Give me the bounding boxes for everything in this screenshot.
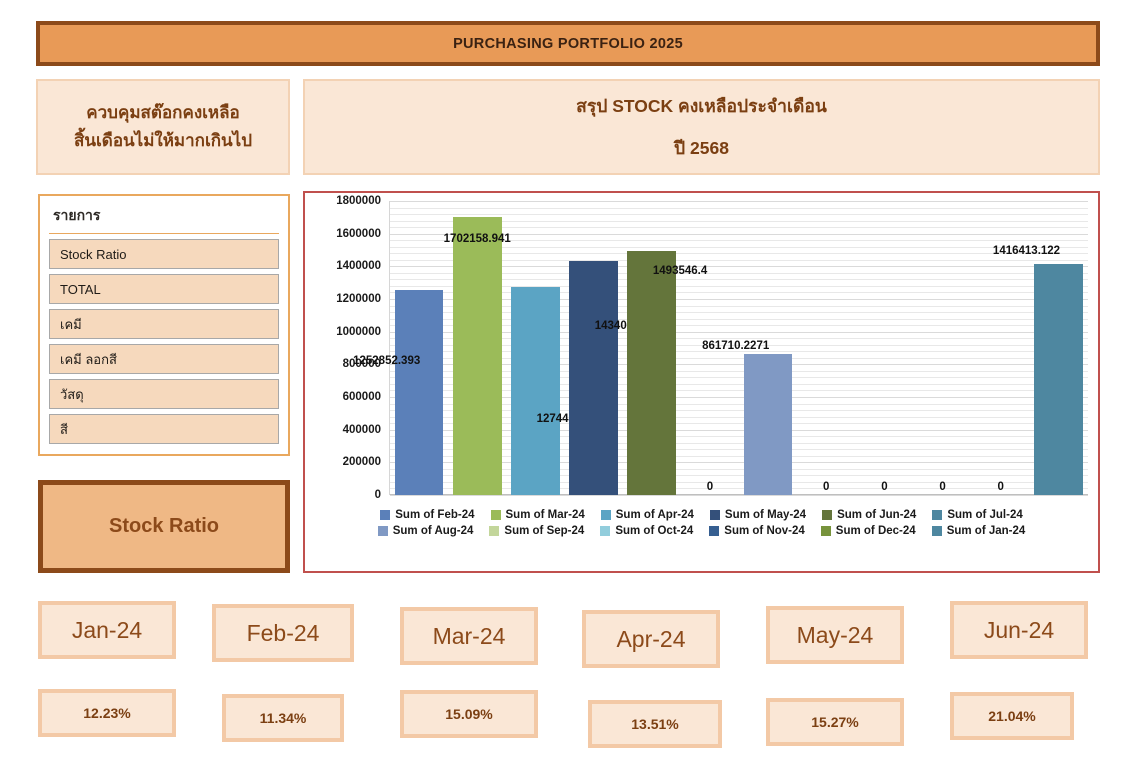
y-axis-tick-label: 200000 xyxy=(343,456,381,468)
slicer-item-label: TOTAL xyxy=(60,282,101,297)
chart-data-label: 0 xyxy=(939,481,945,493)
chart-data-label: 1416413.122 xyxy=(993,245,1060,257)
objective-note-line-2: สิ้นเดือนไม่ให้มากเกินไป xyxy=(74,127,252,155)
y-axis-tick-label: 1600000 xyxy=(336,228,381,240)
legend-swatch-icon xyxy=(380,510,390,520)
chart-data-label: 1252852.393 xyxy=(353,355,420,367)
chart-data-label: 861710.2271 xyxy=(702,340,769,352)
month-percentage-value: 11.34% xyxy=(260,710,307,726)
legend-swatch-icon xyxy=(600,526,610,536)
month-percentage-card[interactable]: 21.04% xyxy=(950,692,1074,740)
slicer-item-label: เคมี ลอกสี xyxy=(60,349,117,370)
month-percentage-card[interactable]: 12.23% xyxy=(38,689,176,737)
chart-title-line-2: ปี 2568 xyxy=(674,134,729,162)
chart-bar-slot: 1252852.393 xyxy=(390,201,448,495)
chart-data-label: 0 xyxy=(823,481,829,493)
legend-item-label: Sum of Oct-24 xyxy=(615,525,693,537)
legend-item-label: Sum of May-24 xyxy=(725,509,806,521)
chart-data-label: 1702158.941 xyxy=(444,233,511,245)
legend-swatch-icon xyxy=(601,510,611,520)
month-percentage-value: 13.51% xyxy=(631,716,678,732)
y-axis-tick-label: 600000 xyxy=(343,391,381,403)
legend-item-label: Sum of Feb-24 xyxy=(395,509,474,521)
y-axis-tick-label: 1400000 xyxy=(336,260,381,272)
chart-bar-slot: 1274458.555 xyxy=(506,201,564,495)
legend-item[interactable]: Sum of Feb-24 xyxy=(380,509,474,521)
legend-item-label: Sum of Aug-24 xyxy=(393,525,474,537)
legend-swatch-icon xyxy=(491,510,501,520)
month-card-label: Feb-24 xyxy=(247,620,320,647)
legend-item[interactable]: Sum of Dec-24 xyxy=(821,525,916,537)
dashboard-banner: PURCHASING PORTFOLIO 2025 xyxy=(36,21,1100,66)
slicer-item-label: สี xyxy=(60,419,68,440)
chart-bar-slot: 0 xyxy=(855,201,913,495)
month-percentage-card[interactable]: 13.51% xyxy=(588,700,722,748)
chart-data-label: 0 xyxy=(881,481,887,493)
y-axis-tick-label: 1200000 xyxy=(336,293,381,305)
chart-data-label: 0 xyxy=(998,481,1004,493)
chart-bar[interactable] xyxy=(395,290,444,495)
slicer-item[interactable]: สี xyxy=(49,414,279,444)
legend-item-label: Sum of Dec-24 xyxy=(836,525,916,537)
month-card-label: May-24 xyxy=(797,622,874,649)
chart-title-line-1: สรุป STOCK คงเหลือประจำเดือน xyxy=(576,92,827,120)
legend-item[interactable]: Sum of Sep-24 xyxy=(489,525,584,537)
chart-bar[interactable] xyxy=(453,217,502,495)
legend-swatch-icon xyxy=(932,510,942,520)
legend-item[interactable]: Sum of Aug-24 xyxy=(378,525,474,537)
dashboard-title: PURCHASING PORTFOLIO 2025 xyxy=(453,36,683,52)
chart-gridline xyxy=(390,495,1088,496)
y-axis-tick-label: 1800000 xyxy=(336,195,381,207)
legend-item[interactable]: Sum of Oct-24 xyxy=(600,525,693,537)
legend-item[interactable]: Sum of Jul-24 xyxy=(932,509,1022,521)
legend-swatch-icon xyxy=(932,526,942,536)
month-card-label: Jun-24 xyxy=(984,617,1054,644)
legend-swatch-icon xyxy=(821,526,831,536)
month-card[interactable]: Jan-24 xyxy=(38,601,176,659)
chart-plot-area: 1800000160000014000001200000100000080000… xyxy=(305,201,1098,503)
legend-item-label: Sum of Nov-24 xyxy=(724,525,805,537)
chart-bar[interactable] xyxy=(511,287,560,495)
month-percentage-card[interactable]: 11.34% xyxy=(222,694,344,742)
chart-bar-slot: 861710.2271 xyxy=(739,201,797,495)
chart-plot: 1252852.3931702158.9411274458.5551434051… xyxy=(389,201,1088,495)
legend-item[interactable]: Sum of May-24 xyxy=(710,509,806,521)
legend-swatch-icon xyxy=(709,526,719,536)
chart-bars: 1252852.3931702158.9411274458.5551434051… xyxy=(390,201,1088,495)
legend-item-label: Sum of Apr-24 xyxy=(616,509,694,521)
slicer-item[interactable]: วัสดุ xyxy=(49,379,279,409)
legend-item-label: Sum of Sep-24 xyxy=(504,525,584,537)
category-slicer[interactable]: รายการ Stock RatioTOTALเคมีเคมี ลอกสีวัส… xyxy=(38,194,290,456)
stock-bar-chart[interactable]: 1800000160000014000001200000100000080000… xyxy=(303,191,1100,573)
legend-swatch-icon xyxy=(710,510,720,520)
chart-title-card: สรุป STOCK คงเหลือประจำเดือน ปี 2568 xyxy=(303,79,1100,175)
chart-data-label: 0 xyxy=(707,481,713,493)
slicer-item[interactable]: เคมี ลอกสี xyxy=(49,344,279,374)
chart-bar-slot: 1702158.941 xyxy=(448,201,506,495)
chart-bar[interactable] xyxy=(744,354,793,495)
stock-ratio-button-label: Stock Ratio xyxy=(109,515,219,538)
slicer-item-label: วัสดุ xyxy=(60,384,84,405)
stock-ratio-button[interactable]: Stock Ratio xyxy=(38,480,290,573)
legend-item[interactable]: Sum of Jun-24 xyxy=(822,509,916,521)
month-percentage-value: 12.23% xyxy=(83,705,130,721)
y-axis-tick-label: 0 xyxy=(375,489,381,501)
month-card-label: Jan-24 xyxy=(72,617,142,644)
legend-item[interactable]: Sum of Mar-24 xyxy=(491,509,585,521)
objective-note-card: ควบคุมสต๊อกคงเหลือ สิ้นเดือนไม่ให้มากเกิ… xyxy=(36,79,290,175)
month-percentage-value: 15.27% xyxy=(811,714,858,730)
month-percentage-value: 15.09% xyxy=(445,706,492,722)
month-card[interactable]: Apr-24 xyxy=(582,610,720,668)
slicer-item-label: Stock Ratio xyxy=(60,247,126,262)
legend-item[interactable]: Sum of Apr-24 xyxy=(601,509,694,521)
chart-legend: Sum of Feb-24Sum of Mar-24Sum of Apr-24S… xyxy=(305,509,1098,537)
chart-bar[interactable] xyxy=(627,251,676,495)
month-card[interactable]: Mar-24 xyxy=(400,607,538,665)
chart-bar[interactable] xyxy=(1034,264,1083,495)
month-percentage-card[interactable]: 15.27% xyxy=(766,698,904,746)
legend-swatch-icon xyxy=(489,526,499,536)
chart-bar-slot: 1416413.122 xyxy=(1030,201,1088,495)
objective-note-line-1: ควบคุมสต๊อกคงเหลือ xyxy=(86,99,240,127)
legend-row: Sum of Aug-24Sum of Sep-24Sum of Oct-24S… xyxy=(370,525,1034,537)
chart-bar[interactable] xyxy=(569,261,618,495)
slicer-item-list: Stock RatioTOTALเคมีเคมี ลอกสีวัสดุสี xyxy=(49,239,279,444)
month-card[interactable]: Feb-24 xyxy=(212,604,354,662)
legend-swatch-icon xyxy=(822,510,832,520)
month-card-label: Mar-24 xyxy=(433,623,506,650)
slicer-item-label: เคมี xyxy=(60,314,82,335)
chart-bar-slot: 1493546.4 xyxy=(623,201,681,495)
y-axis-tick-label: 1000000 xyxy=(336,326,381,338)
legend-item-label: Sum of Mar-24 xyxy=(506,509,585,521)
chart-bar-slot: 0 xyxy=(797,201,855,495)
legend-item[interactable]: Sum of Nov-24 xyxy=(709,525,805,537)
y-axis-tick-label: 400000 xyxy=(343,424,381,436)
legend-row: Sum of Feb-24Sum of Mar-24Sum of Apr-24S… xyxy=(372,509,1030,521)
legend-item-label: Sum of Jul-24 xyxy=(947,509,1022,521)
chart-y-axis: 1800000160000014000001200000100000080000… xyxy=(313,201,385,495)
chart-bar-slot: 1434051.713 xyxy=(565,201,623,495)
legend-item-label: Sum of Jun-24 xyxy=(837,509,916,521)
dashboard-page: PURCHASING PORTFOLIO 2025 ควบคุมสต๊อกคงเ… xyxy=(0,0,1134,759)
slicer-item[interactable]: เคมี xyxy=(49,309,279,339)
slicer-header: รายการ xyxy=(49,203,279,234)
slicer-item[interactable]: TOTAL xyxy=(49,274,279,304)
month-percentage-value: 21.04% xyxy=(988,708,1035,724)
legend-swatch-icon xyxy=(378,526,388,536)
chart-bar-slot: 0 xyxy=(914,201,972,495)
month-percentage-card[interactable]: 15.09% xyxy=(400,690,538,738)
legend-item-label: Sum of Jan-24 xyxy=(947,525,1026,537)
month-card[interactable]: May-24 xyxy=(766,606,904,664)
month-card[interactable]: Jun-24 xyxy=(950,601,1088,659)
slicer-item[interactable]: Stock Ratio xyxy=(49,239,279,269)
month-card-label: Apr-24 xyxy=(616,626,685,653)
legend-item[interactable]: Sum of Jan-24 xyxy=(932,525,1026,537)
